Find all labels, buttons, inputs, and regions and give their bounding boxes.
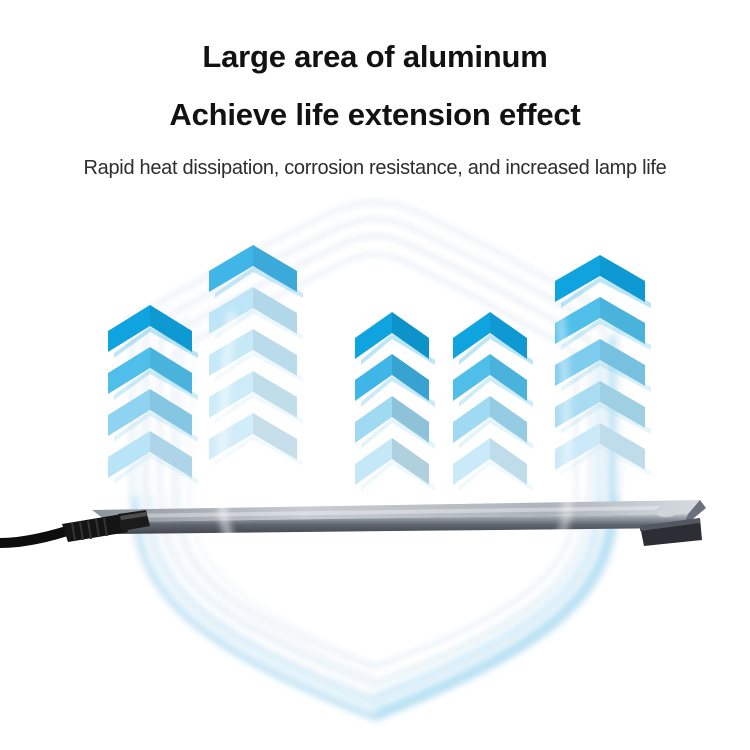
plate-mount-hole [657, 511, 675, 517]
chevron-right-facet [490, 312, 527, 359]
chevron-right-facet [392, 312, 429, 359]
chevron-right-facet [253, 287, 297, 334]
chevron-right-facet [253, 413, 297, 460]
chevron-right-facet [253, 371, 297, 418]
chevron-right-facet [150, 431, 192, 478]
chevron-right-facet [490, 438, 527, 485]
chevron-right-facet [600, 255, 645, 302]
headline-line-1: Large area of aluminum [0, 41, 750, 74]
subheadline: Rapid heat dissipation, corrosion resist… [0, 157, 750, 180]
chevron-right-facet [150, 347, 192, 394]
chevron-right-facet [392, 354, 429, 401]
promo-banner: Large area of aluminum Achieve life exte… [0, 0, 750, 750]
chevron-right-facet [392, 396, 429, 443]
chevron-right-facet [253, 329, 297, 376]
chevron-column-1 [108, 305, 198, 484]
chevron-right-facet [490, 396, 527, 443]
headline-line-2: Achieve life extension effect [0, 99, 750, 132]
heat-dissipation-illustration [0, 196, 750, 750]
chevron-right-facet [150, 305, 192, 352]
chevron-column-4 [453, 312, 533, 491]
chevron-right-facet [150, 389, 192, 436]
chevron-right-facet [392, 438, 429, 485]
text-block: Large area of aluminum Achieve life exte… [0, 0, 750, 180]
chevron-column-3 [355, 312, 435, 491]
power-cable [0, 526, 74, 548]
chevron-right-facet [490, 354, 527, 401]
dc-power-connector-group [0, 510, 150, 548]
